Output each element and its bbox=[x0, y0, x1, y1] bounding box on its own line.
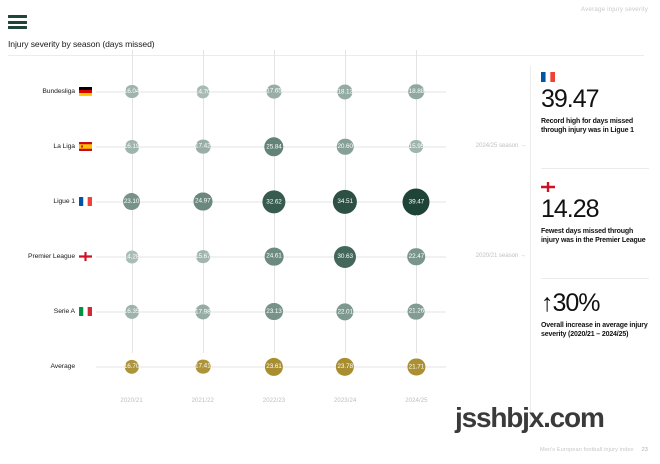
italy-flag bbox=[79, 307, 92, 316]
row-cells: 16.3517.9823.1322.0121.26 bbox=[96, 284, 452, 339]
stats-panel: 39.47Record high for days missed through… bbox=[541, 62, 653, 438]
row-label-ligue-1: Ligue 1 bbox=[0, 197, 96, 206]
row-label-premier-league: Premier League bbox=[0, 252, 96, 261]
chart-row: Bundesliga16.0414.7017.6518.1318.88 bbox=[0, 64, 452, 119]
data-bubble[interactable]: 17.98 bbox=[195, 304, 210, 319]
data-bubble[interactable]: 18.13 bbox=[338, 84, 353, 99]
x-axis-tick: 2023/24 bbox=[334, 398, 356, 404]
data-bubble[interactable]: 15.67 bbox=[196, 250, 210, 264]
stat-description: Fewest days missed through injury was in… bbox=[541, 227, 649, 246]
season-annotations: 2024/25 season →2020/21 season → bbox=[455, 58, 530, 438]
data-bubble[interactable]: 17.41 bbox=[195, 359, 210, 374]
data-bubble[interactable]: 23.61 bbox=[265, 357, 283, 375]
data-bubble[interactable]: 23.10 bbox=[123, 193, 141, 211]
row-cells: 16.7017.4123.6123.7821.71 bbox=[96, 339, 452, 394]
stat-divider bbox=[541, 168, 649, 169]
data-bubble[interactable]: 30.63 bbox=[334, 245, 356, 267]
data-bubble[interactable]: 14.28 bbox=[125, 250, 138, 263]
slide-page: Average injury severity Injury severity … bbox=[0, 0, 660, 464]
row-label-serie-a: Serie A bbox=[0, 307, 96, 316]
x-axis-tick: 2024/25 bbox=[405, 398, 427, 404]
chart-row: Serie A16.3517.9823.1322.0121.26 bbox=[0, 284, 452, 339]
row-label-text: La Liga bbox=[53, 143, 75, 150]
spain-flag bbox=[79, 142, 92, 151]
chart-row: Premier League14.2815.6724.6130.6322.47 bbox=[0, 229, 452, 284]
stat-value: 39.47 bbox=[541, 88, 649, 112]
x-axis-tick: 2020/21 bbox=[120, 398, 142, 404]
stat-card: 14.28Fewest days missed through injury w… bbox=[541, 182, 649, 246]
chart-row: Average16.7017.4123.6123.7821.71 bbox=[0, 339, 452, 394]
chart-row: La Liga16.1917.4225.8420.6015.95 bbox=[0, 119, 452, 174]
france-flag bbox=[79, 197, 92, 206]
row-label-bundesliga: Bundesliga bbox=[0, 87, 96, 96]
data-bubble[interactable]: 24.97 bbox=[193, 192, 212, 211]
data-bubble[interactable]: 23.13 bbox=[265, 303, 283, 321]
stat-divider bbox=[541, 278, 649, 279]
page-title: Injury severity by season (days missed) bbox=[8, 39, 155, 49]
bubble-matrix-chart: Bundesliga16.0414.7017.6518.1318.88La Li… bbox=[0, 58, 452, 438]
data-bubble[interactable]: 16.35 bbox=[125, 304, 139, 318]
england-flag bbox=[541, 182, 555, 192]
data-bubble[interactable]: 21.26 bbox=[408, 303, 425, 320]
hamburger-menu-icon[interactable] bbox=[8, 15, 27, 29]
data-bubble[interactable]: 34.51 bbox=[333, 189, 357, 213]
page-number: 23 bbox=[642, 447, 648, 453]
stat-description: Overall increase in average injury sever… bbox=[541, 321, 649, 340]
data-bubble[interactable]: 17.42 bbox=[195, 139, 210, 154]
chart-row: Ligue 123.1024.9732.6234.5139.47 bbox=[0, 174, 452, 229]
footer-source: Men's European football injury index bbox=[540, 447, 634, 453]
data-bubble[interactable]: 16.70 bbox=[124, 359, 138, 373]
row-label-text: Ligue 1 bbox=[53, 198, 75, 205]
data-bubble[interactable]: 14.70 bbox=[196, 85, 209, 98]
data-bubble[interactable]: 25.84 bbox=[264, 137, 283, 156]
watermark: jsshbjx.com bbox=[455, 402, 604, 434]
row-label-text: Serie A bbox=[54, 308, 75, 315]
panel-divider bbox=[530, 66, 531, 428]
title-divider bbox=[8, 55, 644, 56]
row-label-average: Average bbox=[0, 362, 96, 371]
data-bubble[interactable]: 22.01 bbox=[337, 303, 354, 320]
data-bubble[interactable]: 15.95 bbox=[409, 140, 423, 154]
france-flag bbox=[541, 72, 555, 82]
data-bubble[interactable]: 39.47 bbox=[403, 188, 430, 215]
stat-card: ↑30%Overall increase in average injury s… bbox=[541, 292, 649, 340]
data-bubble[interactable]: 18.88 bbox=[409, 84, 425, 100]
data-bubble[interactable]: 23.78 bbox=[336, 357, 354, 375]
row-label-la-liga: La Liga bbox=[0, 142, 96, 151]
data-bubble[interactable]: 17.65 bbox=[267, 84, 282, 99]
germany-flag bbox=[79, 87, 92, 96]
data-bubble[interactable]: 16.19 bbox=[125, 139, 139, 153]
x-axis-tick: 2021/22 bbox=[192, 398, 214, 404]
data-bubble[interactable]: 32.62 bbox=[262, 190, 285, 213]
stat-value: 14.28 bbox=[541, 198, 649, 222]
stat-card: 39.47Record high for days missed through… bbox=[541, 72, 649, 136]
stat-value: ↑30% bbox=[541, 292, 649, 316]
season-annotation: 2024/25 season → bbox=[476, 142, 526, 149]
footer: Men's European football injury index 23 bbox=[540, 447, 648, 453]
data-bubble[interactable]: 16.04 bbox=[125, 85, 139, 99]
row-label-text: Premier League bbox=[28, 253, 75, 260]
row-label-text: Average bbox=[51, 363, 76, 370]
data-bubble[interactable]: 21.71 bbox=[408, 358, 425, 375]
row-label-text: Bundesliga bbox=[42, 88, 75, 95]
x-axis: 2020/212021/222022/232023/242024/25 bbox=[96, 398, 452, 418]
data-bubble[interactable]: 20.60 bbox=[337, 138, 354, 155]
season-annotation: 2020/21 season → bbox=[476, 252, 526, 259]
top-right-meta: Average injury severity bbox=[581, 6, 648, 13]
stat-description: Record high for days missed through inju… bbox=[541, 117, 649, 136]
x-axis-tick: 2022/23 bbox=[263, 398, 285, 404]
data-bubble[interactable]: 24.61 bbox=[265, 247, 284, 266]
data-bubble[interactable]: 22.47 bbox=[408, 248, 426, 266]
england-flag bbox=[79, 252, 92, 261]
content-area: Bundesliga16.0414.7017.6518.1318.88La Li… bbox=[0, 58, 660, 438]
